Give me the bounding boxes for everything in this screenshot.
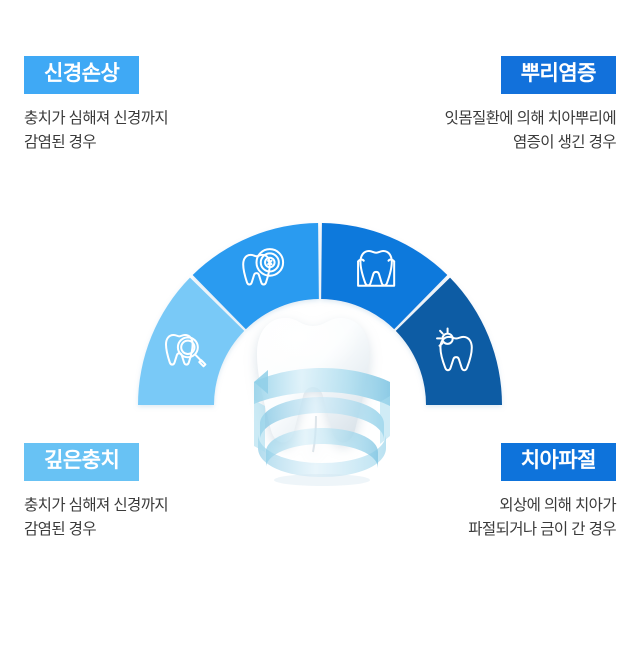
category-description-deep-cavity: 충치가 심해져 신경까지 감염된 경우 (24, 494, 294, 542)
category-deep-cavity[interactable]: 깊은충치 충치가 심해져 신경까지 감염된 경우 (24, 443, 294, 542)
category-description-tooth-fracture: 외상에 의해 치아가 파절되거나 금이 간 경우 (346, 494, 616, 542)
category-badge-tooth-fracture[interactable]: 치아파절 (501, 443, 616, 481)
category-description-nerve-damage: 충치가 심해져 신경까지 감염된 경우 (24, 107, 294, 155)
tooth-gum-icon (358, 251, 394, 286)
category-badge-root-inflammation[interactable]: 뿌리염증 (501, 56, 616, 94)
tooth-crack-icon (437, 328, 472, 370)
category-badge-deep-cavity[interactable]: 깊은충치 (24, 443, 139, 481)
category-badge-nerve-damage[interactable]: 신경손상 (24, 56, 139, 94)
category-tooth-fracture[interactable]: 치아파절 외상에 의해 치아가 파절되거나 금이 간 경우 (346, 443, 616, 542)
category-description-root-inflammation: 잇몸질환에 의해 치아뿌리에 염증이 생긴 경우 (346, 107, 616, 155)
category-nerve-damage[interactable]: 신경손상 충치가 심해져 신경까지 감염된 경우 (24, 56, 294, 155)
infographic-canvas: 신경손상 충치가 심해져 신경까지 감염된 경우 뿌리염증 잇몸질환에 의해 치… (0, 0, 640, 657)
category-root-inflammation[interactable]: 뿌리염증 잇몸질환에 의해 치아뿌리에 염증이 생긴 경우 (346, 56, 616, 155)
arc-segment-deep-cavity[interactable] (138, 278, 244, 405)
tooth-target-icon (243, 249, 283, 284)
tooth-magnifier-icon (166, 335, 205, 366)
ribbon-edge-right (380, 396, 390, 444)
